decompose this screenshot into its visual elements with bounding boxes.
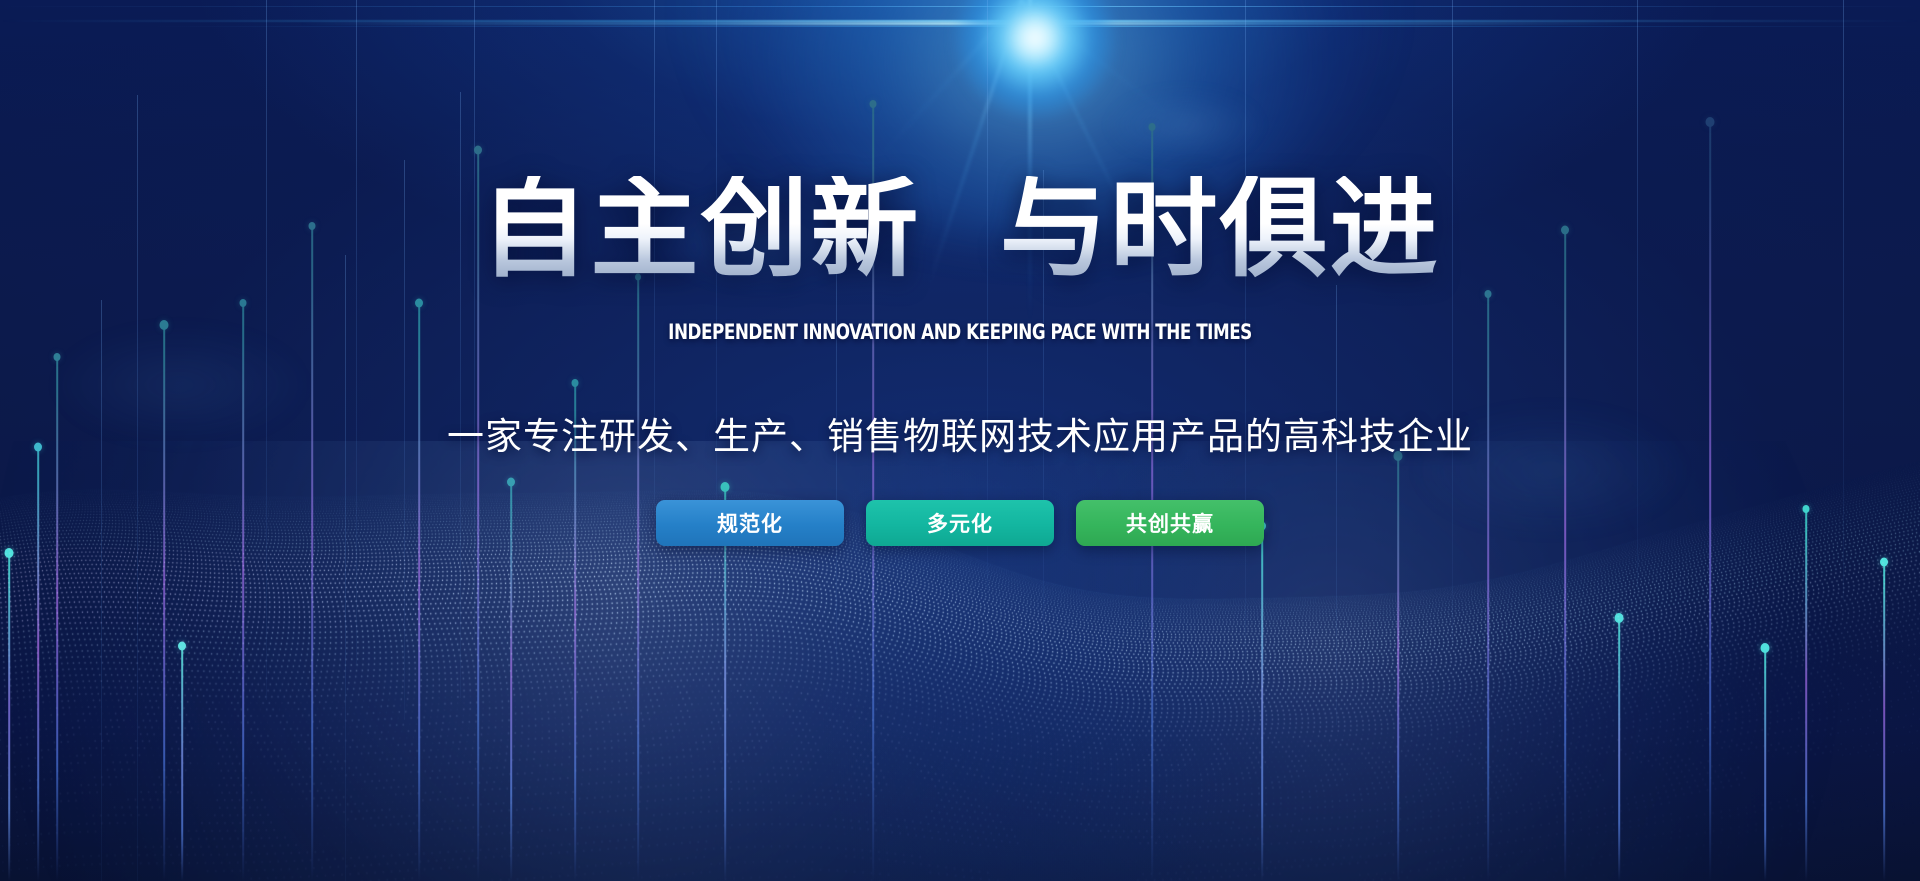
page-title: 自主创新 与时俱进 xyxy=(0,176,1920,284)
feature-pill-0[interactable]: 规范化 xyxy=(656,500,844,546)
hero-content: 自主创新 与时俱进 INDEPENDENT INNOVATION AND KEE… xyxy=(0,0,1920,881)
feature-pill-label: 规范化 xyxy=(717,508,783,538)
feature-pill-label: 共创共赢 xyxy=(1126,508,1214,538)
subtitle-english: INDEPENDENT INNOVATION AND KEEPING PACE … xyxy=(192,320,1728,344)
hero-banner: 自主创新 与时俱进 INDEPENDENT INNOVATION AND KEE… xyxy=(0,0,1920,881)
company-tagline: 一家专注研发、生产、销售物联网技术应用产品的高科技企业 xyxy=(0,406,1920,460)
feature-pill-row: 规范化多元化共创共赢 xyxy=(0,500,1920,546)
feature-pill-label: 多元化 xyxy=(927,508,993,538)
feature-pill-2[interactable]: 共创共赢 xyxy=(1076,500,1264,546)
feature-pill-1[interactable]: 多元化 xyxy=(866,500,1054,546)
